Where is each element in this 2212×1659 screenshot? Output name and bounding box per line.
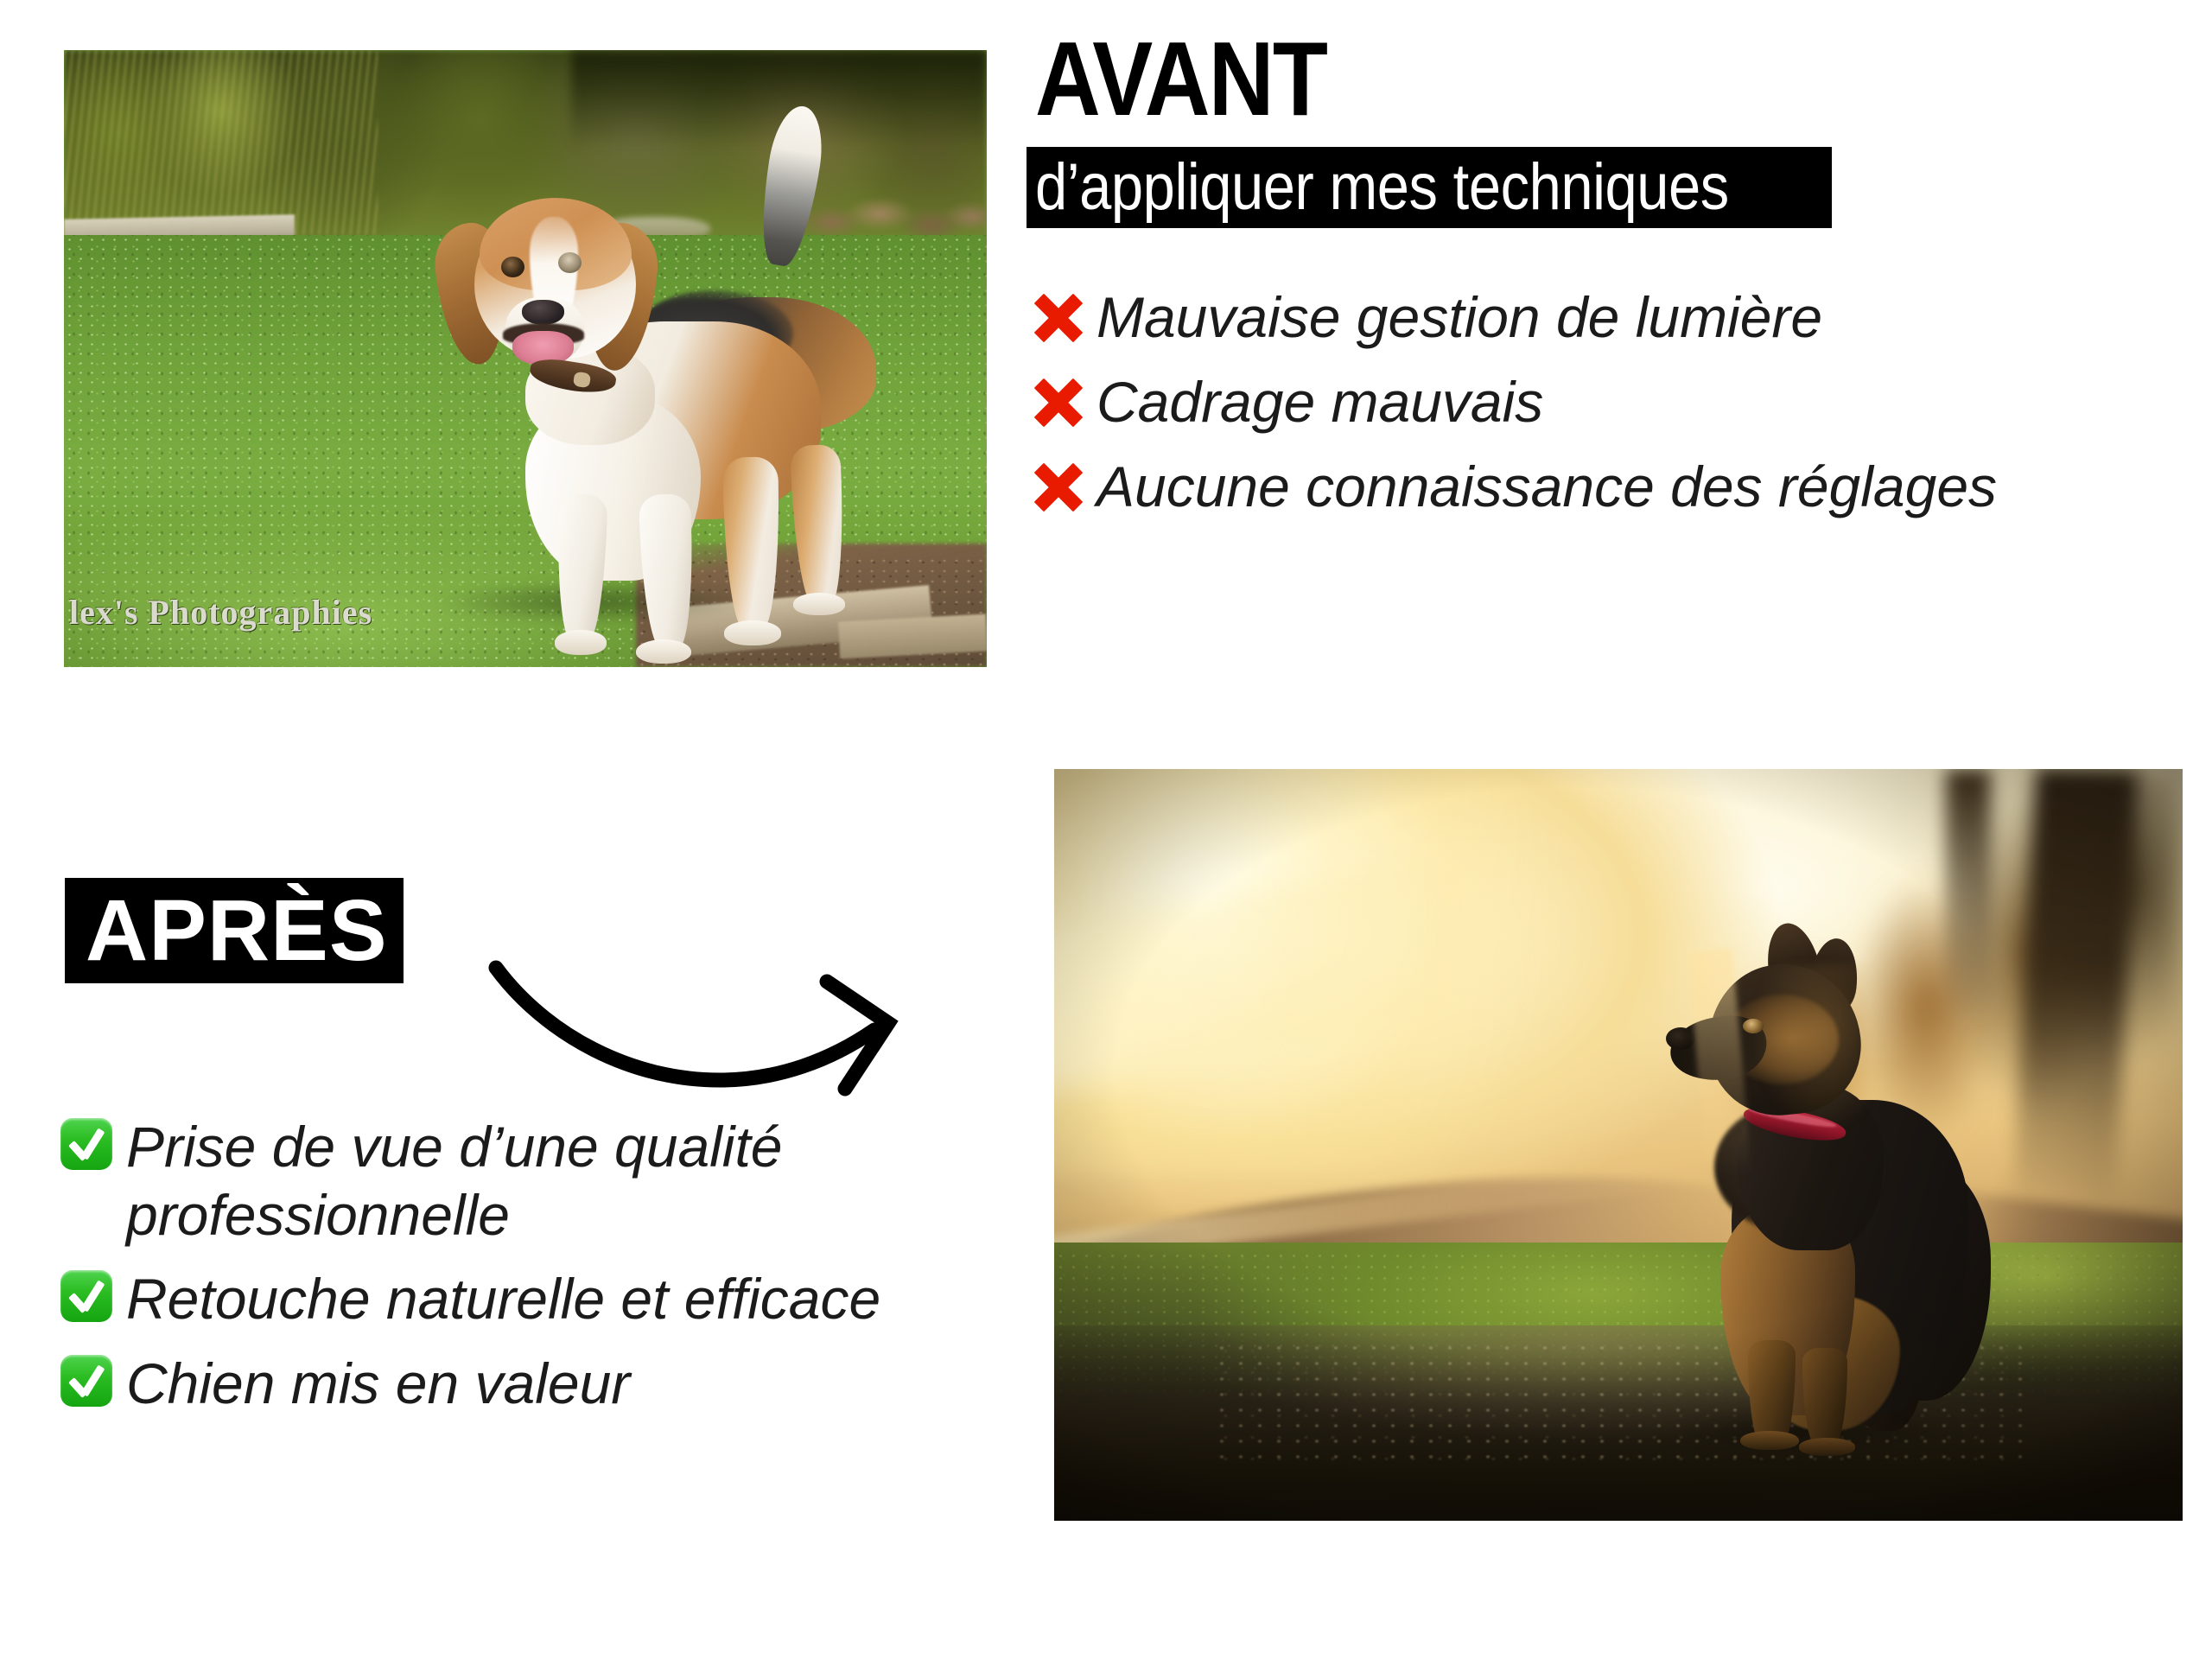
before-headline: AVANT: [1035, 24, 1326, 134]
before-subhead-bar: d’appliquer mes techniques: [1027, 147, 1832, 228]
after-bullet-label-1: Prise de vue d’une qualité professionnel…: [126, 1113, 783, 1249]
list-item: Prise de vue d’une qualité professionnel…: [60, 1111, 880, 1249]
green-check-icon: [60, 1118, 112, 1170]
before-bullet-label-1: Mauvaise gestion de lumière: [1096, 289, 1822, 346]
beagle-nose: [522, 300, 564, 325]
after-bullet-label-2: Retouche naturelle et efficace: [126, 1265, 880, 1333]
list-item: Chien mis en valeur: [60, 1348, 880, 1418]
reed-stalks: [64, 50, 378, 235]
beagle-paw-3: [724, 620, 781, 645]
red-x-icon: [1033, 377, 1084, 429]
list-item: Retouche naturelle et efficace: [60, 1263, 880, 1333]
green-check-icon: [60, 1270, 112, 1322]
before-subhead-text: d’appliquer mes techniques: [1035, 155, 1729, 220]
beagle-paw-4: [793, 593, 845, 615]
before-bullet-label-3: Aucune connaissance des réglages: [1096, 458, 1997, 515]
green-check-icon: [60, 1355, 112, 1407]
photo-watermark: lex's Photographies: [69, 592, 372, 632]
after-bullet-label-3: Chien mis en valeur: [126, 1350, 630, 1418]
red-x-icon: [1033, 292, 1084, 344]
beagle-paw-2: [636, 639, 691, 664]
before-photo: lex's Photographies: [64, 50, 987, 667]
after-headline-text: APRÈS: [86, 887, 388, 974]
list-item: Aucune connaissance des réglages: [1033, 454, 1997, 515]
red-x-icon: [1033, 461, 1084, 513]
photo-vignette: [1054, 769, 2183, 1521]
list-item: Mauvaise gestion de lumière: [1033, 285, 1997, 346]
slide-canvas: lex's Photographies: [0, 0, 2212, 1659]
wooden-plank-second: [838, 613, 987, 658]
beagle-paw-1: [555, 630, 607, 655]
after-photo: [1054, 769, 2183, 1521]
before-bullet-label-2: Cadrage mauvais: [1096, 373, 1543, 430]
before-bullet-list: Mauvaise gestion de lumière Cadrage mauv…: [1033, 285, 1997, 539]
after-headline-bar: APRÈS: [65, 878, 404, 983]
after-bullet-list: Prise de vue d’une qualité professionnel…: [60, 1111, 880, 1432]
list-item: Cadrage mauvais: [1033, 370, 1997, 430]
